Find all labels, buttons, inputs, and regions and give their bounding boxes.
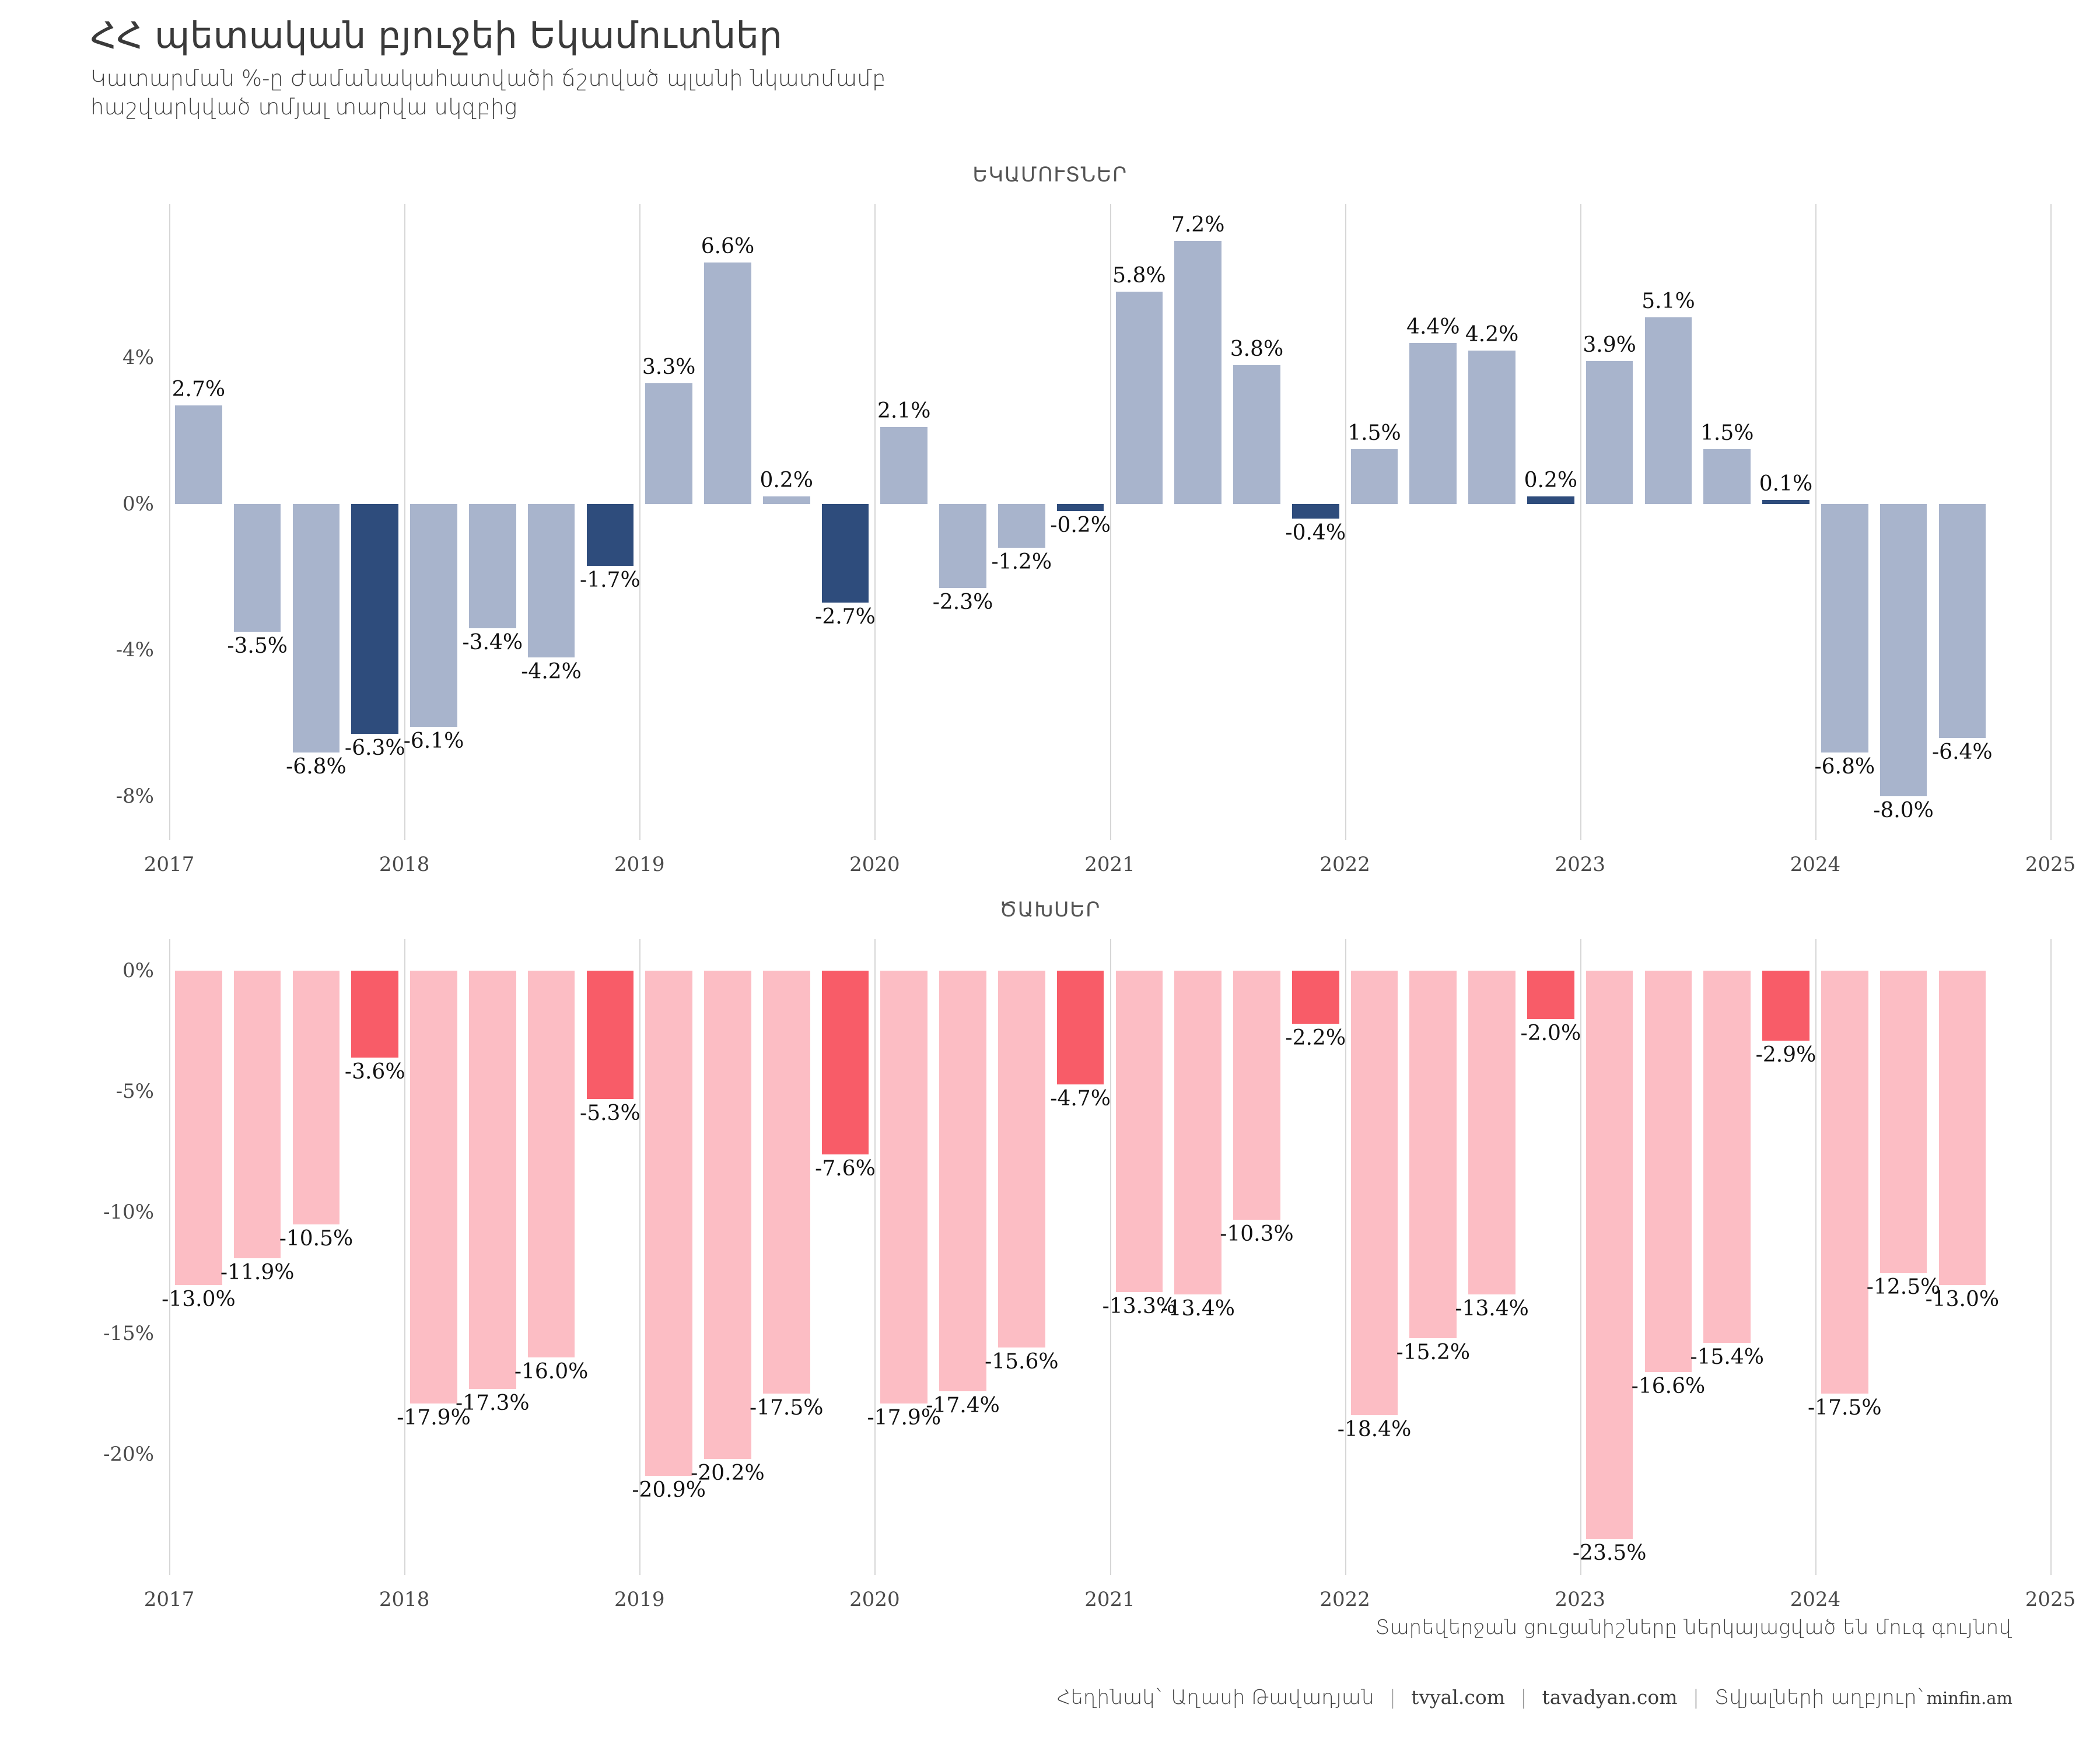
bar-rect — [1057, 504, 1104, 512]
bar-rect — [293, 504, 340, 752]
bar-2019Q4[interactable]: -2.7% — [822, 204, 869, 840]
bar-value-label: -15.2% — [1396, 1340, 1471, 1364]
bar-2017Q4[interactable]: -6.3% — [351, 204, 398, 840]
bar-2024Q2[interactable]: -12.5% — [1880, 939, 1927, 1575]
bar-2021Q4[interactable]: -0.4% — [1292, 204, 1339, 840]
bar-value-label: -6.8% — [1814, 755, 1875, 779]
bar-2022Q2[interactable]: -15.2% — [1409, 939, 1457, 1575]
bar-2020Q3[interactable]: -1.2% — [998, 204, 1045, 840]
credit-link-tvyal[interactable]: tvyal.com — [1411, 1686, 1505, 1709]
bar-value-label: -15.4% — [1690, 1345, 1764, 1369]
chart-title-expenses: ԾԱԽՍԵՐ — [0, 898, 2100, 922]
bar-2020Q3[interactable]: -15.6% — [998, 939, 1045, 1575]
bar-rect — [1174, 971, 1221, 1294]
bar-value-label: -1.7% — [580, 568, 640, 592]
x-axis-tick-2022: 2022 — [1319, 1588, 1370, 1611]
bar-value-label: -13.4% — [1161, 1297, 1235, 1321]
bar-value-label: -23.5% — [1573, 1541, 1647, 1565]
credit-author: Հեղինակ` Աղասի Թավադյան — [1057, 1686, 1374, 1709]
x-axis-tick-2018: 2018 — [379, 1588, 430, 1611]
x-axis-tick-2024: 2024 — [1790, 853, 1841, 876]
bar-2023Q2[interactable]: 5.1% — [1645, 204, 1692, 840]
bar-rect — [1292, 971, 1339, 1024]
x-axis-tick-2018: 2018 — [379, 853, 430, 876]
x-axis-tick-2017: 2017 — [144, 853, 195, 876]
page-subtitle: Կատարման %-ը Ժամանակահատվածի ճշտված պլան… — [90, 65, 2015, 122]
y-axis-tick-neg15pct: -15% — [103, 1322, 169, 1345]
bar-2018Q1[interactable]: -17.9% — [410, 939, 457, 1575]
bar-value-label: -16.6% — [1632, 1374, 1706, 1398]
bar-value-label: 1.5% — [1700, 421, 1753, 445]
bar-2017Q2[interactable]: -11.9% — [234, 939, 281, 1575]
bar-value-label: 4.4% — [1406, 315, 1459, 339]
bar-value-label: -4.2% — [521, 660, 582, 684]
bar-value-label: 3.8% — [1230, 337, 1283, 361]
year-gridline-2017 — [169, 939, 170, 1575]
bar-rect — [704, 971, 751, 1459]
bar-rect — [1233, 971, 1280, 1220]
bar-2023Q3[interactable]: 1.5% — [1703, 204, 1751, 840]
bar-rect — [1527, 496, 1574, 504]
bar-2019Q3[interactable]: 0.2% — [763, 204, 810, 840]
bar-value-label: -5.3% — [580, 1101, 640, 1125]
bar-value-label: 3.9% — [1583, 333, 1636, 357]
plot-area-revenues: 2017201820192020202120222023202420254%0%… — [169, 204, 2050, 840]
bar-rect — [998, 504, 1045, 548]
chart-credits: Հեղինակ` Աղասի Թավադյան | tvyal.com | ta… — [1057, 1686, 2013, 1709]
bar-rect — [704, 262, 751, 503]
credit-separator-1: | — [1374, 1686, 1411, 1709]
bar-2018Q4[interactable]: -1.7% — [587, 204, 634, 840]
bar-value-label: 1.5% — [1347, 421, 1401, 445]
bar-value-label: -17.4% — [926, 1394, 1000, 1417]
bar-2020Q2[interactable]: -17.4% — [939, 939, 986, 1575]
x-axis-tick-2024: 2024 — [1790, 1588, 1841, 1611]
bar-rect — [1351, 971, 1398, 1416]
bar-2022Q4[interactable]: -2.0% — [1527, 939, 1574, 1575]
bar-value-label: 3.3% — [642, 355, 695, 379]
bar-2018Q2[interactable]: -17.3% — [469, 939, 516, 1575]
bar-2024Q3[interactable]: -13.0% — [1939, 939, 1986, 1575]
bar-rect — [1821, 504, 1868, 752]
bar-value-label: -2.3% — [933, 590, 993, 614]
bar-rect — [1645, 317, 1692, 503]
bar-rect — [1762, 500, 1810, 504]
bar-2022Q2[interactable]: 4.4% — [1409, 204, 1457, 840]
bar-value-label: -17.3% — [456, 1391, 530, 1415]
bar-value-label: -3.4% — [462, 631, 523, 654]
bar-value-label: -2.2% — [1285, 1026, 1346, 1050]
bar-2024Q1[interactable]: -17.5% — [1821, 939, 1868, 1575]
bar-2022Q1[interactable]: 1.5% — [1351, 204, 1398, 840]
bar-value-label: -2.0% — [1521, 1021, 1581, 1045]
credit-separator-2: | — [1505, 1686, 1542, 1709]
bar-value-label: -13.0% — [162, 1287, 236, 1311]
bar-2020Q2[interactable]: -2.3% — [939, 204, 986, 840]
bar-value-label: -6.1% — [404, 729, 464, 753]
bar-value-label: -10.5% — [279, 1227, 353, 1251]
year-gridline-2023 — [1580, 204, 1581, 840]
bar-value-label: -18.4% — [1338, 1417, 1412, 1441]
bar-2021Q2[interactable]: 7.2% — [1174, 204, 1221, 840]
y-axis-tick-neg5pct: -5% — [116, 1080, 169, 1103]
bar-rect — [1703, 971, 1751, 1343]
bar-2017Q4[interactable]: -3.6% — [351, 939, 398, 1575]
bar-2023Q2[interactable]: -16.6% — [1645, 939, 1692, 1575]
bar-rect — [528, 971, 575, 1357]
bar-2017Q1[interactable]: -13.0% — [175, 939, 222, 1575]
year-gridline-2025 — [2050, 939, 2052, 1575]
bar-2021Q2[interactable]: -13.4% — [1174, 939, 1221, 1575]
y-axis-tick-neg10pct: -10% — [103, 1200, 169, 1224]
credit-separator-3: | — [1678, 1686, 1714, 1709]
bar-rect — [939, 504, 986, 588]
bar-rect — [175, 405, 222, 504]
bar-2022Q3[interactable]: 4.2% — [1468, 204, 1515, 840]
bar-2023Q1[interactable]: -23.5% — [1586, 939, 1633, 1575]
y-axis-tick-neg8pct: -8% — [116, 785, 169, 808]
y-axis-tick-neg20pct: -20% — [103, 1443, 169, 1466]
bar-2019Q3[interactable]: -17.5% — [763, 939, 810, 1575]
bar-2017Q1[interactable]: 2.7% — [175, 204, 222, 840]
chart-note: Տարեվերջան ցուցանիշները ներկայացված են մ… — [1375, 1616, 2013, 1639]
bar-rect — [1409, 343, 1457, 504]
x-axis-tick-2025: 2025 — [2025, 853, 2076, 876]
bar-value-label: 2.7% — [172, 377, 225, 401]
y-axis-tick-neg4pct: -4% — [116, 638, 169, 661]
bar-2021Q1[interactable]: 5.8% — [1116, 204, 1163, 840]
bar-2019Q2[interactable]: -20.2% — [704, 939, 751, 1575]
bar-rect — [528, 504, 575, 657]
bar-2024Q2[interactable]: -8.0% — [1880, 204, 1927, 840]
bar-2019Q1[interactable]: -20.9% — [645, 939, 692, 1575]
bar-rect — [410, 971, 457, 1403]
bar-2021Q1[interactable]: -13.3% — [1116, 939, 1163, 1575]
bar-rect — [645, 383, 692, 504]
bar-value-label: -10.3% — [1220, 1222, 1294, 1246]
x-axis-tick-2023: 2023 — [1555, 853, 1605, 876]
bar-rect — [1821, 971, 1868, 1394]
bar-value-label: -13.0% — [1926, 1287, 2000, 1311]
bar-rect — [469, 504, 516, 628]
bar-rect — [1880, 971, 1927, 1273]
bar-rect — [763, 496, 810, 504]
y-axis-tick-0pct: 0% — [123, 492, 169, 516]
bar-rect — [1762, 971, 1810, 1041]
bar-rect — [1351, 449, 1398, 504]
bar-2020Q1[interactable]: -17.9% — [880, 939, 928, 1575]
bar-value-label: -11.9% — [220, 1261, 295, 1284]
bar-rect — [1527, 971, 1574, 1019]
bar-rect — [1880, 504, 1927, 796]
bar-value-label: -17.5% — [1808, 1396, 1882, 1420]
credit-link-tavadyan[interactable]: tavadyan.com — [1542, 1686, 1677, 1709]
chart-panel-expenses: ԾԱԽՍԵՐ 201720182019202020212022202320242… — [0, 898, 2100, 1627]
year-gridline-2018 — [404, 939, 405, 1575]
bar-rect — [822, 971, 869, 1154]
y-axis-tick-4pct: 4% — [123, 346, 169, 369]
year-gridline-2025 — [2050, 204, 2052, 840]
bar-rect — [1703, 449, 1751, 504]
x-axis-tick-2023: 2023 — [1555, 1588, 1605, 1611]
bar-2022Q4[interactable]: 0.2% — [1527, 204, 1574, 840]
chart-title-revenues: ԵԿԱՄՈՒՏՆԵՐ — [0, 163, 2100, 187]
bar-value-label: -6.3% — [345, 736, 405, 760]
bar-rect — [234, 971, 281, 1258]
bar-rect — [998, 971, 1045, 1348]
bar-2020Q4[interactable]: -4.7% — [1057, 939, 1104, 1575]
bar-2023Q3[interactable]: -15.4% — [1703, 939, 1751, 1575]
bar-2024Q3[interactable]: -6.4% — [1939, 204, 1986, 840]
bar-rect — [1409, 971, 1457, 1338]
bar-rect — [1939, 971, 1986, 1285]
year-gridline-2024 — [1815, 939, 1817, 1575]
bar-value-label: -7.6% — [815, 1157, 876, 1181]
page-header: ՀՀ պետական բյուջեի Եկամուտներ Կատարման %… — [90, 16, 2015, 122]
bar-rect — [1116, 292, 1163, 503]
bar-value-label: 6.6% — [701, 235, 754, 258]
bar-rect — [234, 504, 281, 632]
bar-2022Q3[interactable]: -13.4% — [1468, 939, 1515, 1575]
bar-value-label: -0.2% — [1050, 513, 1111, 537]
bar-2019Q4[interactable]: -7.6% — [822, 939, 869, 1575]
bar-rect — [880, 427, 928, 504]
credit-source-label: Տվյալների աղբյուր` — [1714, 1686, 1926, 1709]
x-axis-tick-2020: 2020 — [849, 1588, 900, 1611]
page-title: ՀՀ պետական բյուջեի Եկամուտներ — [90, 16, 2015, 54]
bar-rect — [1939, 504, 1986, 738]
bar-rect — [1292, 504, 1339, 519]
bar-2020Q1[interactable]: 2.1% — [880, 204, 928, 840]
bar-2017Q2[interactable]: -3.5% — [234, 204, 281, 840]
x-axis-tick-2022: 2022 — [1319, 853, 1370, 876]
year-gridline-2017 — [169, 204, 170, 840]
bar-rect — [351, 504, 398, 734]
x-axis-tick-2020: 2020 — [849, 853, 900, 876]
bar-2018Q4[interactable]: -5.3% — [587, 939, 634, 1575]
chart-panel-revenues: ԵԿԱՄՈՒՏՆԵՐ 20172018201920202021202220232… — [0, 163, 2100, 892]
bar-rect — [880, 971, 928, 1403]
x-axis-tick-2025: 2025 — [2025, 1588, 2076, 1611]
bar-value-label: -17.5% — [750, 1396, 824, 1420]
bar-value-label: -13.4% — [1455, 1297, 1529, 1321]
bar-2017Q3[interactable]: -10.5% — [293, 939, 340, 1575]
bar-rect — [1116, 971, 1163, 1292]
credit-source-value[interactable]: minfin.am — [1927, 1688, 2013, 1708]
x-axis-tick-2019: 2019 — [614, 853, 665, 876]
bar-value-label: 5.8% — [1112, 264, 1165, 288]
bar-rect — [1174, 241, 1221, 504]
bar-2017Q3[interactable]: -6.8% — [293, 204, 340, 840]
bar-value-label: -16.0% — [514, 1360, 589, 1384]
bar-2024Q1[interactable]: -6.8% — [1821, 204, 1868, 840]
year-gridline-2020 — [874, 204, 876, 840]
x-axis-tick-2019: 2019 — [614, 1588, 665, 1611]
bar-rect — [939, 971, 986, 1391]
bar-value-label: -4.7% — [1050, 1087, 1111, 1111]
bar-rect — [351, 971, 398, 1058]
bar-value-label: -20.2% — [691, 1461, 765, 1485]
year-gridline-2020 — [874, 939, 876, 1575]
bar-2023Q4[interactable]: 0.1% — [1762, 204, 1810, 840]
bar-2019Q1[interactable]: 3.3% — [645, 204, 692, 840]
bar-value-label: -3.5% — [227, 634, 288, 658]
bar-value-label: -2.7% — [815, 605, 876, 629]
bar-value-label: -6.8% — [286, 755, 346, 779]
bar-2021Q3[interactable]: -10.3% — [1233, 939, 1280, 1575]
bar-2018Q3[interactable]: -16.0% — [528, 939, 575, 1575]
bar-value-label: -15.6% — [985, 1350, 1059, 1374]
plot-area-expenses: 2017201820192020202120222023202420250%-5… — [169, 939, 2050, 1575]
bar-value-label: -6.4% — [1932, 740, 1993, 764]
bar-rect — [1468, 351, 1515, 504]
page-subtitle-line2: հաշվարկված տմյալ տարվա սկզբից — [90, 93, 2015, 122]
bar-value-label: 5.1% — [1641, 289, 1695, 313]
bar-2021Q3[interactable]: 3.8% — [1233, 204, 1280, 840]
bar-2022Q1[interactable]: -18.4% — [1351, 939, 1398, 1575]
bar-value-label: 2.1% — [877, 399, 930, 423]
x-axis-tick-2021: 2021 — [1084, 853, 1135, 876]
bar-rect — [587, 971, 634, 1099]
bar-value-label: 0.1% — [1759, 472, 1812, 496]
bar-value-label: -8.0% — [1873, 799, 1934, 822]
bar-rect — [645, 971, 692, 1476]
bar-rect — [763, 971, 810, 1394]
year-gridline-2024 — [1815, 204, 1817, 840]
bar-2018Q2[interactable]: -3.4% — [469, 204, 516, 840]
bar-value-label: 0.2% — [759, 468, 813, 492]
x-axis-tick-2021: 2021 — [1084, 1588, 1135, 1611]
bar-rect — [293, 971, 340, 1224]
bar-rect — [1057, 971, 1104, 1084]
bar-value-label: -3.6% — [345, 1060, 405, 1084]
bar-2021Q4[interactable]: -2.2% — [1292, 939, 1339, 1575]
bar-2023Q4[interactable]: -2.9% — [1762, 939, 1810, 1575]
chart-page: ՀՀ պետական բյուջեի Եկամուտներ Կատարման %… — [0, 0, 2100, 1750]
bar-rect — [1645, 971, 1692, 1372]
bar-value-label: -0.4% — [1285, 521, 1346, 545]
bar-rect — [1586, 971, 1633, 1539]
x-axis-tick-2017: 2017 — [144, 1588, 195, 1611]
bar-rect — [410, 504, 457, 727]
y-axis-tick-0pct: 0% — [123, 959, 169, 982]
bar-rect — [1233, 365, 1280, 504]
bar-rect — [822, 504, 869, 603]
bar-value-label: -1.2% — [992, 550, 1052, 574]
bar-2018Q3[interactable]: -4.2% — [528, 204, 575, 840]
bar-rect — [175, 971, 222, 1285]
bar-rect — [587, 504, 634, 566]
bar-2019Q2[interactable]: 6.6% — [704, 204, 751, 840]
year-gridline-2019 — [639, 204, 640, 840]
bar-value-label: 4.2% — [1465, 323, 1518, 346]
bar-value-label: 0.2% — [1524, 468, 1577, 492]
bar-value-label: 7.2% — [1171, 213, 1224, 237]
bar-rect — [1586, 361, 1633, 503]
bar-rect — [469, 971, 516, 1389]
bar-rect — [1468, 971, 1515, 1294]
bar-value-label: -2.9% — [1756, 1043, 1817, 1067]
bar-2023Q1[interactable]: 3.9% — [1586, 204, 1633, 840]
year-gridline-2021 — [1110, 939, 1111, 1575]
page-subtitle-line1: Կատարման %-ը Ժամանակահատվածի ճշտված պլան… — [90, 65, 2015, 93]
bar-2020Q4[interactable]: -0.2% — [1057, 204, 1104, 840]
bar-2018Q1[interactable]: -6.1% — [410, 204, 457, 840]
